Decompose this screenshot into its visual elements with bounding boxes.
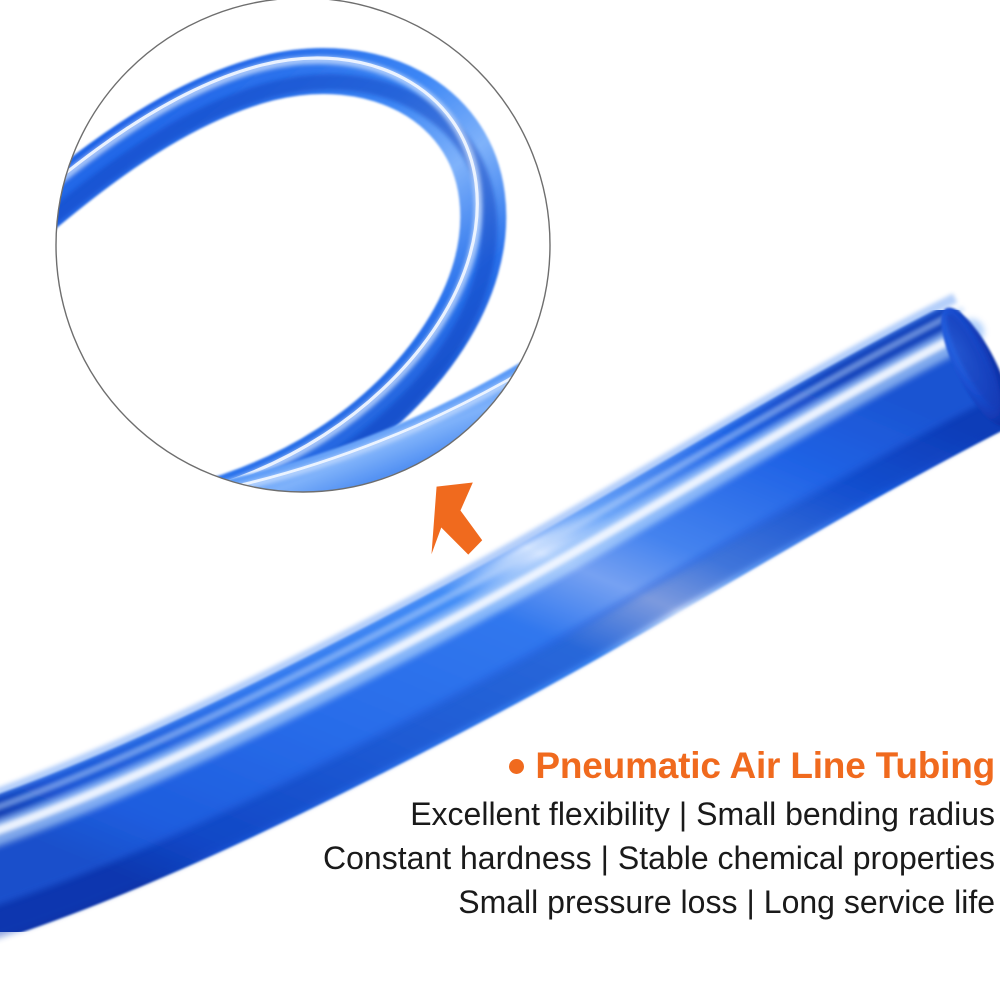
feature-separator: | [592, 836, 618, 880]
feature-2-right: Stable chemical properties [618, 840, 995, 876]
feature-1-right: Small bending radius [696, 796, 995, 832]
feature-2-left: Constant hardness [323, 840, 592, 876]
feature-line-2: Constant hardness|Stable chemical proper… [300, 836, 995, 880]
feature-callout: Pneumatic Air Line Tubing Excellent flex… [300, 744, 995, 924]
page-title: Pneumatic Air Line Tubing [535, 745, 995, 786]
feature-1-left: Excellent flexibility [410, 796, 670, 832]
feature-line-1: Excellent flexibility|Small bending radi… [300, 792, 995, 836]
product-image-canvas: Pneumatic Air Line Tubing Excellent flex… [0, 0, 1000, 1000]
bullet-dot-icon [509, 759, 524, 774]
feature-separator: | [737, 880, 763, 924]
headline-row: Pneumatic Air Line Tubing [300, 744, 995, 788]
feature-separator: | [670, 792, 696, 836]
feature-line-3: Small pressure loss|Long service life [300, 880, 995, 924]
feature-3-right: Long service life [764, 884, 995, 920]
feature-3-left: Small pressure loss [458, 884, 737, 920]
